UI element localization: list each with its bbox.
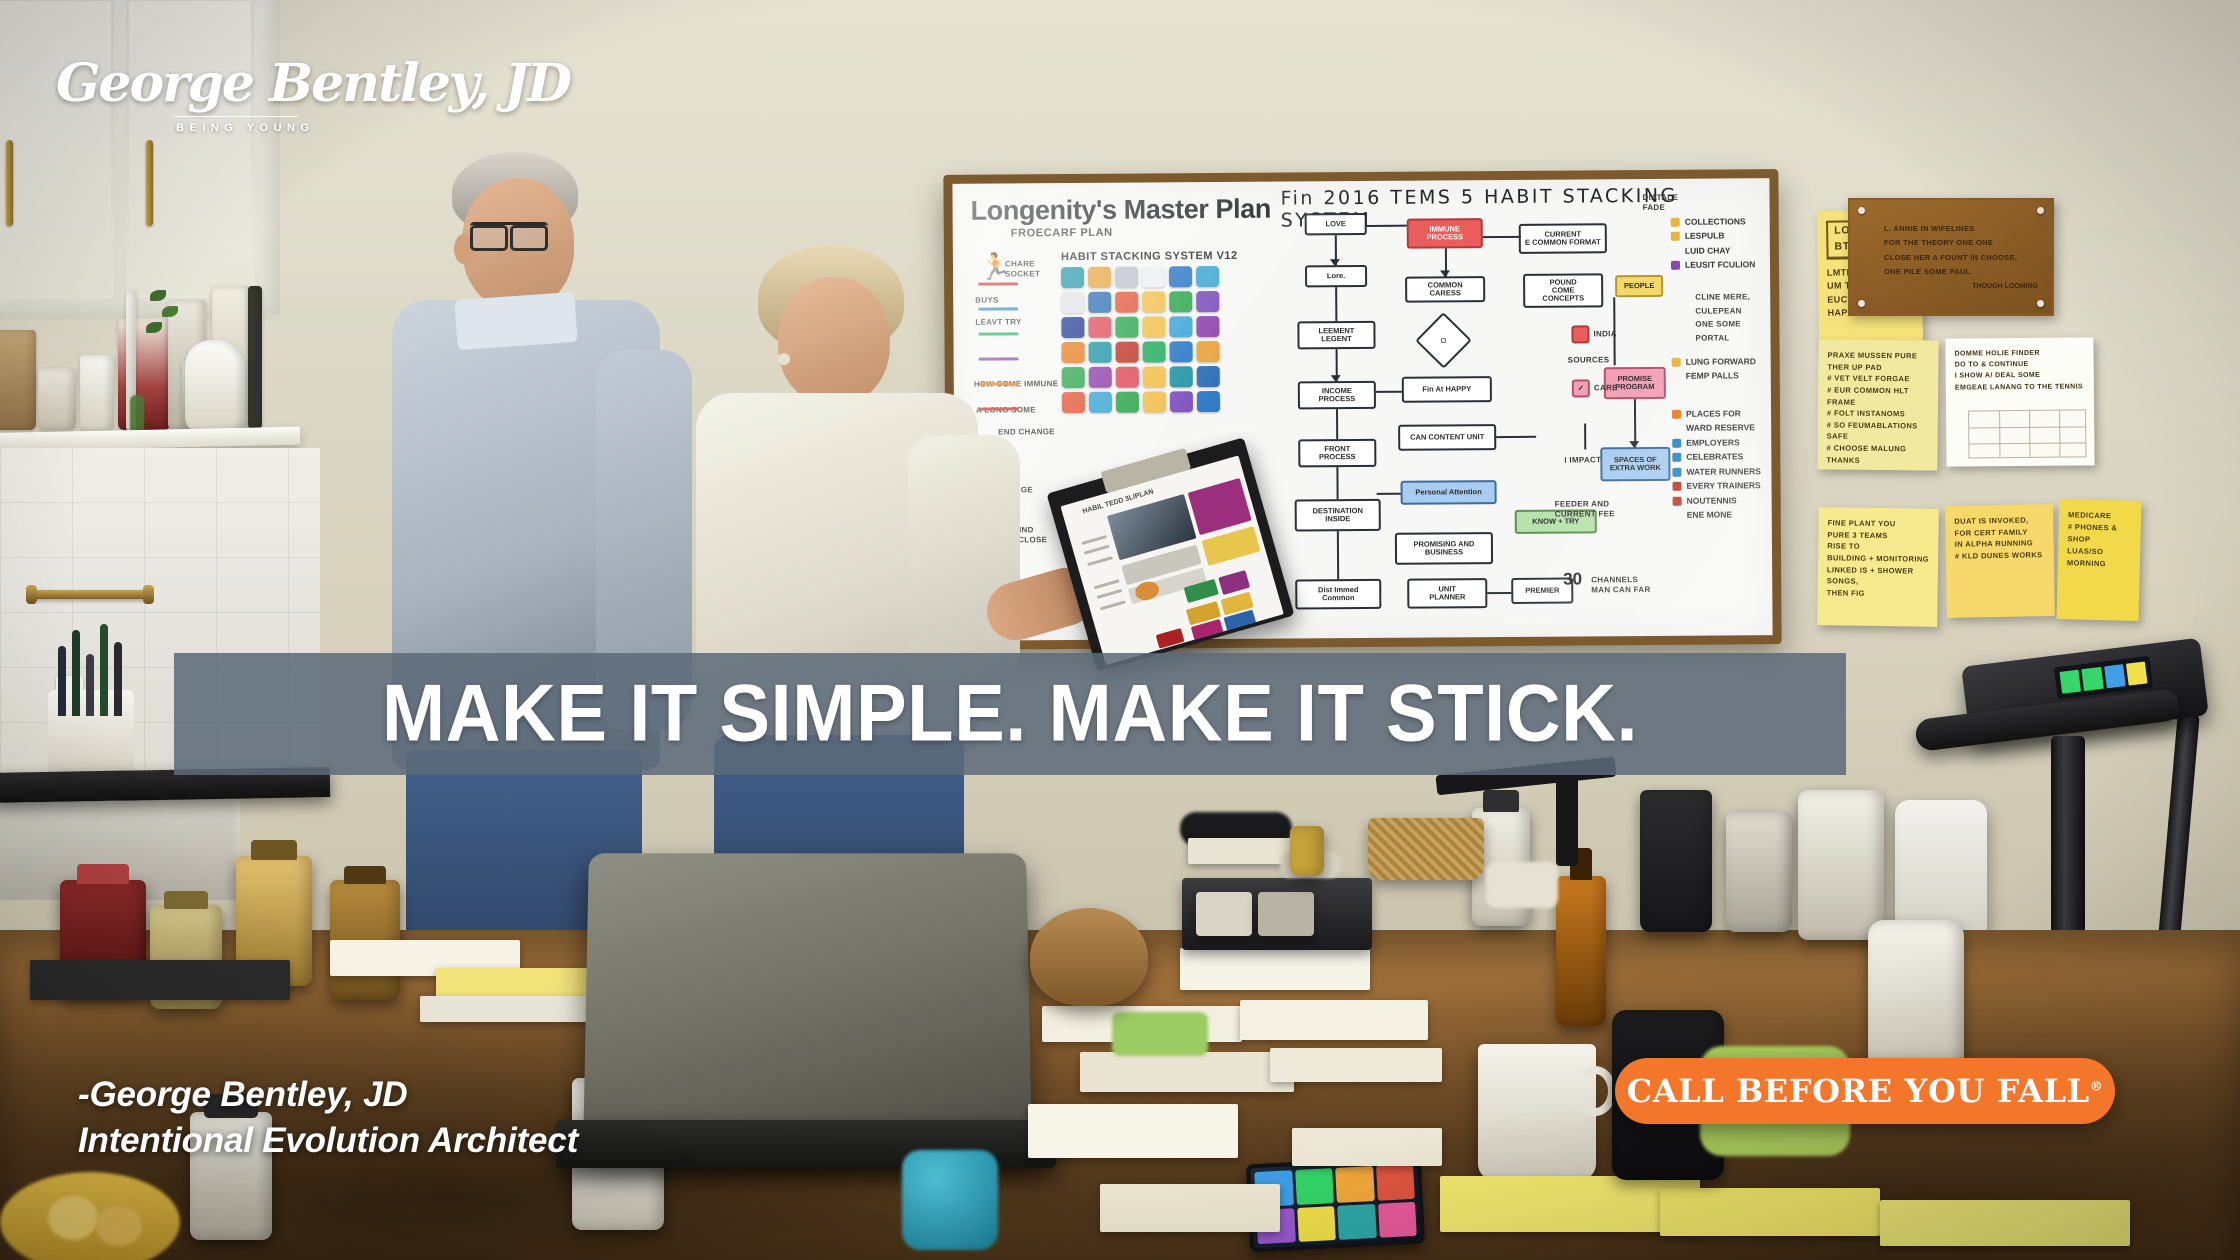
ceramic-pot <box>1030 908 1148 1006</box>
person-right-woman <box>730 245 1060 925</box>
flow-box-pound: POUNDCOMECONCEPTS <box>1523 273 1603 308</box>
flow-box-promising: PROMISING ANDBUSINESS <box>1395 532 1493 565</box>
flow-box-love: LOVE <box>1305 213 1367 235</box>
sticky-body: MEDICARE # PHONES & SHOP LUAS/SO MORNING <box>2067 509 2132 571</box>
flow-box-people: PEOPLE <box>1615 275 1663 297</box>
towel-bar <box>30 590 150 599</box>
ceramic-vase <box>185 340 245 432</box>
sticky-body: DUAT IS INVOKED, FOR CERT FAMILY IN ALPH… <box>1954 514 2045 562</box>
sticky-note-medicare: MEDICARE # PHONES & SHOP LUAS/SO MORNING <box>2057 499 2142 621</box>
sticky-note-fine-plant: FINE PLANT YOU PURE 3 TEAMS RISE TO BUIL… <box>1817 507 1939 627</box>
whiteboard-note-clinemere: CLINE MERE,CULEPEANONE SOMEPORTAL <box>1695 290 1750 345</box>
wire-basket <box>1368 818 1484 880</box>
earring <box>778 353 790 365</box>
flow-box-unit: UNITPLANNER <box>1407 578 1487 609</box>
whiteboard-note-30-channels: 30 <box>1563 569 1582 589</box>
whiteboard-note-impact: I IMPACT <box>1564 455 1601 465</box>
sticky-mini-table <box>1968 409 2086 458</box>
amber-bottle <box>1556 876 1606 1026</box>
flow-box-cancontent: CAN CONTENT UNIT <box>1398 424 1496 451</box>
flow-box-dist: Dist ImmedCommon <box>1295 579 1381 610</box>
whiteboard-title: Longenity's Master Plan <box>970 194 1271 227</box>
collar <box>454 292 577 350</box>
whiteboard-note-fade: DIATALEFADE <box>1642 193 1678 213</box>
cta-label: CALL BEFORE YOU FALL® <box>1627 1072 2104 1110</box>
flow-marker-india <box>1571 325 1589 343</box>
teal-jar <box>902 1150 998 1250</box>
flow-box-destination: DESTINATIONINSIDE <box>1295 499 1381 532</box>
call-before-you-fall-button[interactable]: CALL BEFORE YOU FALL® <box>1615 1058 2115 1124</box>
coffee-mug <box>1478 1044 1596 1180</box>
whiteboard-subtitle: FROECARF PLAN <box>1011 227 1113 240</box>
upper-cabinets <box>0 0 280 320</box>
attribution-title: Intentional Evolution Architect <box>78 1118 578 1164</box>
cork-board: L. ANNIE IN WIFELINES FOR THE THEORY ONE… <box>1848 198 2054 316</box>
cta-label-text: CALL BEFORE YOU FALL <box>1627 1072 2090 1110</box>
cork-board-text: L. ANNIE IN WIFELINES FOR THE THEORY ONE… <box>1884 222 2017 279</box>
head <box>778 277 890 405</box>
headline-text: MAKE IT SIMPLE. MAKE IT STICK. <box>382 674 1638 755</box>
sticky-body: FINE PLANT YOU PURE 3 TEAMS RISE TO BUIL… <box>1827 517 1930 600</box>
sticky-body: DOMME HOLIE FINDER DO TO & CONTINUE I SH… <box>1955 347 2085 393</box>
sticky-note-praxe: PRAXE MUSSEN PURE THER UP PAD # VET VELT… <box>1817 339 1938 470</box>
attribution-block: -George Bentley, JD Intentional Evolutio… <box>78 1072 578 1163</box>
whiteboard-note-india: INDIA <box>1593 329 1616 339</box>
whiteboard-note-sources: SOURCES <box>1568 355 1610 365</box>
flow-box-content: COMMONCARESS <box>1405 276 1485 303</box>
whiteboard-system-label: HABIT STACKING SYSTEM V12 <box>1061 250 1238 263</box>
flow-box-income: INCOMEPROCESS <box>1298 381 1376 410</box>
flow-box-lore: Lore. <box>1305 265 1367 287</box>
sticky-body: PRAXE MUSSEN PURE THER UP PAD # VET VELT… <box>1826 349 1929 466</box>
whiteboard-right-legend-2: LUNG FORWARDFEMP PALLS <box>1672 354 1782 384</box>
arm-holding-clipboard <box>908 435 1020 685</box>
flow-marker-care: ✓ <box>1572 379 1590 397</box>
flow-box-spaces: SPACES OFEXTRA WORK <box>1600 447 1670 481</box>
flow-box-immune: IMMUNEPROCESS <box>1407 218 1483 249</box>
glasses-icon <box>470 222 548 244</box>
whiteboard-note-channels: CHANNELSMAN CAN FAR <box>1591 575 1650 595</box>
brand-logo[interactable]: George Bentley, JD BEING YOUNG <box>56 58 356 158</box>
whiteboard-note-care: CARE <box>1594 383 1618 393</box>
habit-icon-grid <box>1061 266 1220 413</box>
whiteboard-note-feeder: FEEDER ANDCURRENT FEE <box>1555 499 1615 519</box>
promotional-graphic: Longenity's Master Plan FROECARF PLAN Fi… <box>0 0 2240 1260</box>
flow-box-personal: Personal Attention <box>1400 480 1496 505</box>
registered-mark: ® <box>2090 1079 2104 1094</box>
flow-box-finathappy: Fin At HAPPY <box>1402 376 1492 403</box>
whiteboard-right-legend-3: PLACES FORWARD RESERVE EMPLOYERS CELEBRA… <box>1672 406 1782 522</box>
whiteboard-right-legend: COLLECTIONS LESPULBLUID CHAY LEUSIT FCUL… <box>1671 214 1782 273</box>
logo-tagline: BEING YOUNG <box>176 122 315 134</box>
logo-divider <box>174 116 298 117</box>
flow-box-diamond: ◇ <box>1415 312 1472 369</box>
cork-board-signature: THOUGH LOOMING <box>1972 283 2038 290</box>
attribution-name: -George Bentley, JD <box>78 1072 578 1118</box>
flow-box-leement: LEEMENTLEGENT <box>1297 321 1375 350</box>
sticky-note-domme: DOMME HOLIE FINDER DO TO & CONTINUE I SH… <box>1945 337 2094 466</box>
sticky-note-duat: DUAT IS INVOKED, FOR CERT FAMILY IN ALPH… <box>1945 504 2055 618</box>
flow-box-front: FRONTPROCESS <box>1298 439 1376 468</box>
flow-box-current: CURRENTE COMMON FORMAT <box>1519 223 1607 254</box>
headline-band: MAKE IT SIMPLE. MAKE IT STICK. <box>174 653 1846 775</box>
laptop <box>583 853 1032 1152</box>
logo-wordmark: George Bentley, JD <box>56 58 570 110</box>
